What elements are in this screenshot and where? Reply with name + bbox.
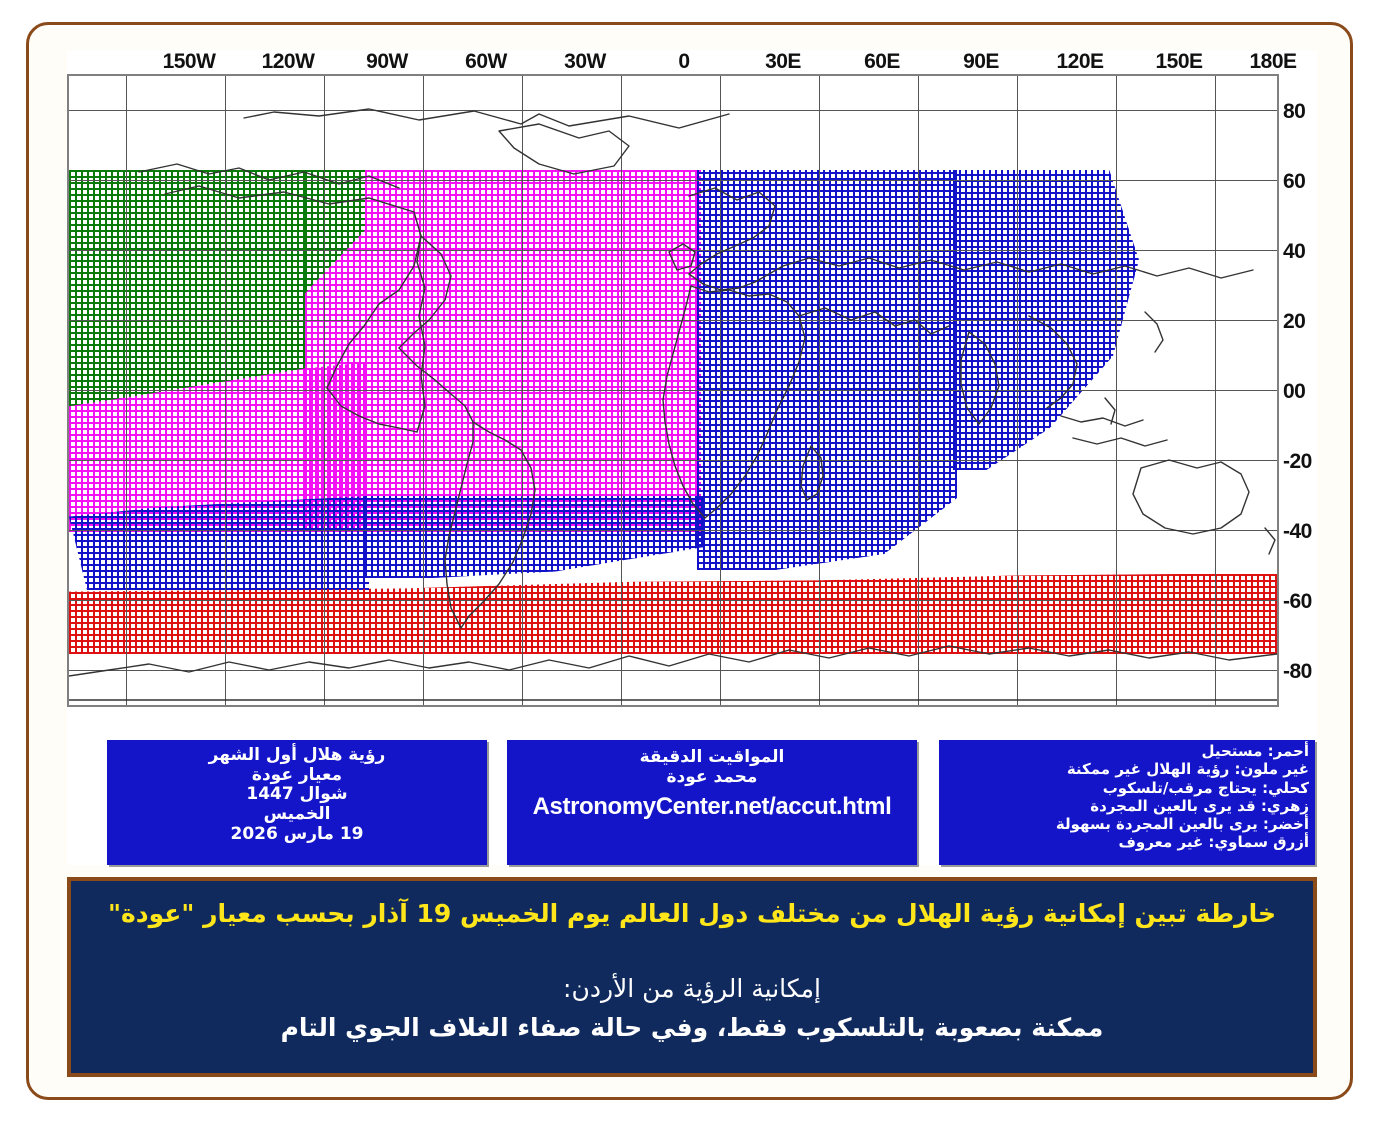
- x-tick-11: 180E: [1249, 50, 1296, 74]
- x-tick-7: 60E: [864, 50, 900, 74]
- y-tick-4: 00: [1283, 380, 1305, 404]
- x-tick-1: 120W: [262, 50, 315, 74]
- source-url[interactable]: AstronomyCenter.net/accut.html: [507, 793, 917, 821]
- legend-key-navy: كحلي: يحتاج مرقب/تلسكوب: [943, 779, 1309, 797]
- source-author: محمد عودة: [507, 768, 917, 788]
- x-tick-9: 120E: [1056, 50, 1103, 74]
- caption-sub-value: ممكنة بصعوبة بالتلسكوب فقط، وفي حالة صفا…: [281, 1013, 1104, 1042]
- source-title: المواقيت الدقيقة: [507, 748, 917, 768]
- caption-sub-label: إمكانية الرؤية من الأردن:: [563, 974, 821, 1003]
- y-tick-7: -60: [1283, 590, 1312, 614]
- event-hijri: شوال 1447: [107, 785, 487, 805]
- caption-panel: خارطة تبين إمكانية رؤية الهلال من مختلف …: [67, 877, 1317, 1077]
- legend-key-cyan: أزرق سماوي: غير معروف: [943, 833, 1309, 851]
- x-tick-0: 150W: [163, 50, 216, 74]
- x-tick-8: 90E: [963, 50, 999, 74]
- plot-area: [69, 76, 1277, 705]
- latitude-axis: 80 60 40 20 00 -20 -40 -60 -80: [1283, 74, 1353, 707]
- legend-key-uncolored: غير ملون: رؤية الهلال غير ممكنة: [943, 760, 1309, 778]
- x-tick-2: 90W: [366, 50, 408, 74]
- y-tick-8: -80: [1283, 660, 1312, 684]
- y-tick-3: 20: [1283, 310, 1305, 334]
- legend-box-color-key: أحمر: مستحيل غير ملون: رؤية الهلال غير م…: [939, 740, 1315, 865]
- event-title: رؤية هلال أول الشهر: [107, 746, 487, 766]
- x-tick-3: 60W: [465, 50, 507, 74]
- map-card: 150W 120W 90W 60W 30W 0 30E 60E 90E 120E…: [67, 50, 1317, 865]
- legend-box-source: المواقيت الدقيقة محمد عودة AstronomyCent…: [507, 740, 917, 865]
- legend-key-green: أخضر: يرى بالعين المجردة بسهولة: [943, 815, 1309, 833]
- legend-box-event-info: رؤية هلال أول الشهر معيار عودة شوال 1447…: [107, 740, 487, 865]
- y-tick-2: 40: [1283, 240, 1305, 264]
- y-tick-1: 60: [1283, 170, 1305, 194]
- world-map-plot: [67, 74, 1279, 707]
- y-tick-6: -40: [1283, 520, 1312, 544]
- legend-key-red: أحمر: مستحيل: [943, 742, 1309, 760]
- y-tick-0: 80: [1283, 100, 1305, 124]
- longitude-axis: 150W 120W 90W 60W 30W 0 30E 60E 90E 120E…: [67, 50, 1279, 76]
- x-tick-6: 30E: [765, 50, 801, 74]
- x-tick-5: 0: [678, 50, 689, 74]
- event-date: 19 مارس 2026: [107, 825, 487, 845]
- x-tick-4: 30W: [564, 50, 606, 74]
- event-criterion: معيار عودة: [107, 766, 487, 786]
- outer-frame: 150W 120W 90W 60W 30W 0 30E 60E 90E 120E…: [26, 22, 1353, 1100]
- event-weekday: الخميس: [107, 805, 487, 825]
- y-tick-5: -20: [1283, 450, 1312, 474]
- caption-title: خارطة تبين إمكانية رؤية الهلال من مختلف …: [108, 899, 1276, 928]
- coastlines: [69, 76, 1277, 705]
- legend-key-pink: زهري: قد يرى بالعين المجردة: [943, 797, 1309, 815]
- legend-row: رؤية هلال أول الشهر معيار عودة شوال 1447…: [67, 740, 1353, 865]
- x-tick-10: 150E: [1155, 50, 1202, 74]
